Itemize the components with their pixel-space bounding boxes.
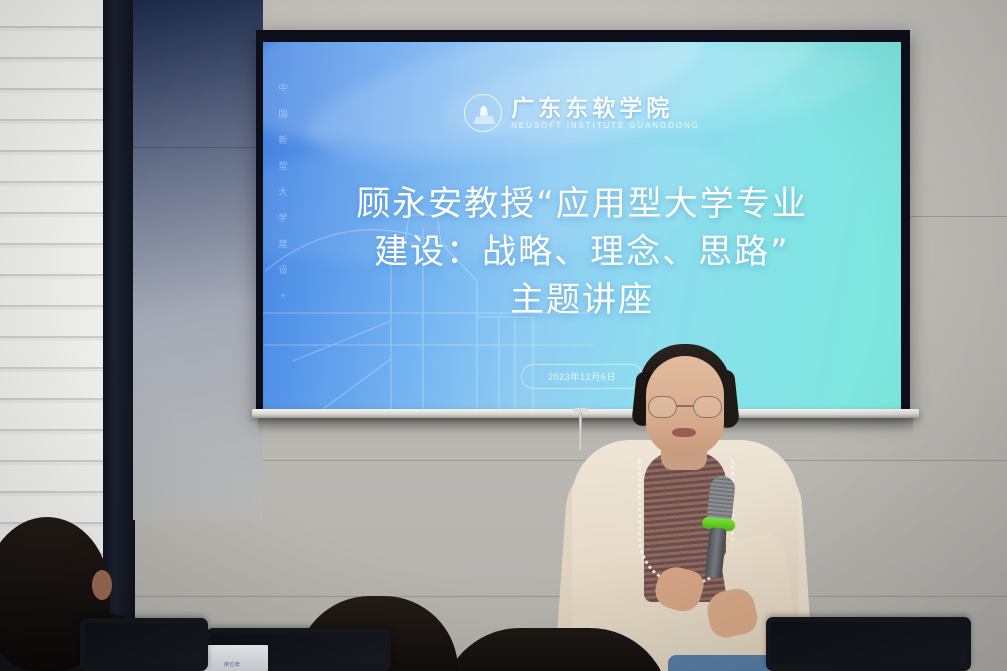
- lecture-hall-scene: 中 国 新 型 大 学 建 设 + 广东东软学院 NEUSOFT INSTITU…: [0, 0, 1007, 671]
- university-emblem-icon: [464, 94, 502, 132]
- speaker-mouth: [672, 428, 696, 437]
- institution-logo-text: 广东东软学院 NEUSOFT INSTITUTE GUANGDONG: [511, 97, 700, 130]
- institution-logo: 广东东软学院 NEUSOFT INSTITUTE GUANGDONG: [263, 94, 901, 132]
- strip-char: 中: [278, 84, 287, 93]
- slide-title: 顾永安教授“应用型大学专业 建设：战略、理念、思路” 主题讲座: [263, 180, 901, 324]
- audience-ear: [92, 570, 112, 600]
- glasses-icon: [648, 396, 722, 418]
- slide-title-line-1: 顾永安教授“应用型大学专业: [263, 180, 901, 228]
- strip-char: 新: [278, 136, 287, 145]
- slide-title-line-3: 主题讲座: [263, 276, 901, 324]
- blue-wall-panel: [133, 0, 263, 520]
- desk-monitor: [80, 618, 208, 671]
- dark-wall-column: [103, 0, 135, 671]
- desk-monitor: [766, 617, 971, 671]
- institution-name-cn: 广东东软学院: [511, 97, 700, 120]
- strip-char: 型: [278, 162, 287, 171]
- slide-title-line-2: 建设：战略、理念、思路”: [263, 228, 901, 276]
- institution-name-en: NEUSOFT INSTITUTE GUANGDONG: [511, 122, 700, 130]
- desk-nameplate-label: 席位牌: [224, 661, 240, 668]
